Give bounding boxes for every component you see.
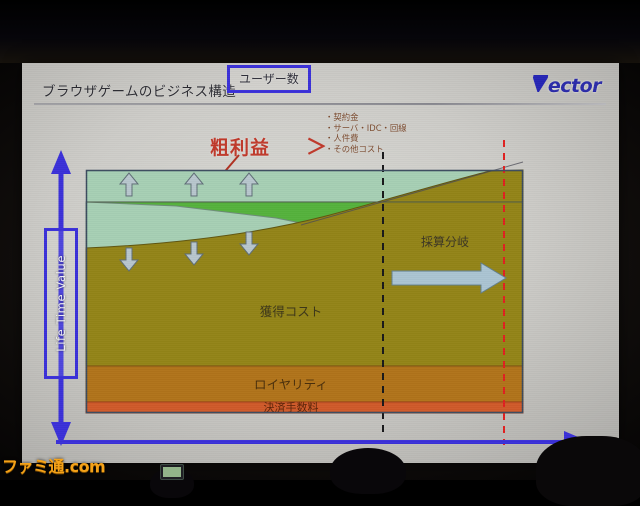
list-item: ・その他コスト <box>325 144 407 155</box>
vector-logo: ector <box>532 75 601 97</box>
title-divider <box>34 103 606 105</box>
life-time-value-label-box: Life Time Value <box>44 228 78 379</box>
gross-profit-arrow-glyph: ＞ <box>306 131 327 161</box>
acquisition-cost-label: 獲得コスト <box>260 304 323 319</box>
users-axis-label-box: ユーザー数 <box>227 65 311 93</box>
famitsu-watermark: ファミ通.com <box>2 453 105 477</box>
page-title: ブラウザゲームのビジネス構造 <box>42 80 236 100</box>
users-axis-label: ユーザー数 <box>239 72 299 86</box>
list-item: ・契約金 <box>325 112 407 123</box>
phone-screen <box>163 467 181 477</box>
vector-logo-text: ector <box>548 75 601 97</box>
list-item: ・サーバ・IDC・回線 <box>325 123 407 134</box>
audience-silhouette <box>330 448 406 494</box>
audience-silhouette <box>536 436 640 506</box>
life-time-value-label: Life Time Value <box>54 255 68 352</box>
phone-silhouette <box>160 464 184 480</box>
users-axis <box>52 425 592 459</box>
v-chevron-icon <box>530 75 548 92</box>
cost-bullet-list: ・契約金 ・サーバ・IDC・回線 ・人件費 ・その他コスト <box>325 112 407 154</box>
ceiling-shadow <box>0 0 640 63</box>
business-structure-area-chart: 採算分岐 獲得コスト ロイヤリティ 決済手数料 <box>86 170 523 413</box>
royalty-label: ロイヤリティ <box>254 377 328 392</box>
list-item: ・人件費 <box>325 133 407 144</box>
projection-screen: ブラウザゲームのビジネス構造 ector ・契約金 ・サーバ・IDC・回線 ・人… <box>22 63 619 463</box>
break-even-label: 採算分岐 <box>421 234 469 249</box>
axis-arrow-up-icon <box>51 150 71 174</box>
